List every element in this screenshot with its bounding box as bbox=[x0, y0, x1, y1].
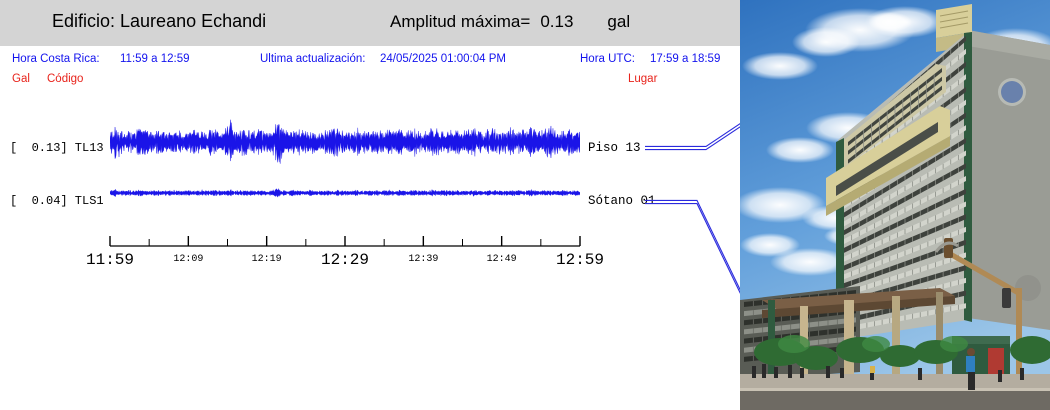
trace-left-label-1: [ 0.04] TLS1 bbox=[10, 194, 104, 208]
max-amplitude-readout: Amplitud máxima=0.13gal bbox=[390, 12, 630, 32]
local-time-value: 11:59 a 12:59 bbox=[120, 53, 190, 65]
page-title: Edificio: Laureano Echandi bbox=[52, 11, 266, 32]
axis-tick-label: 12:49 bbox=[487, 254, 517, 265]
utc-time-value: 17:59 a 18:59 bbox=[650, 53, 720, 65]
trace-right-label-0: Piso 13 bbox=[588, 141, 641, 155]
axis-tick-label: 12:09 bbox=[173, 254, 203, 265]
axis-tick-label: 12:29 bbox=[321, 251, 369, 269]
max-amplitude-value: 0.13 bbox=[540, 12, 573, 31]
info-row-primary: Hora Costa Rica: 11:59 a 12:59 Ultima ac… bbox=[0, 53, 740, 71]
seismic-monitor-page: Edificio: Laureano Echandi Amplitud máxi… bbox=[0, 0, 1050, 410]
axis-tick-label: 11:59 bbox=[86, 251, 134, 269]
max-amplitude-unit: gal bbox=[607, 12, 630, 31]
local-time-label: Hora Costa Rica: bbox=[12, 53, 100, 65]
info-row-secondary: Gal Código Lugar bbox=[0, 73, 740, 91]
axis-tick-label: 12:19 bbox=[252, 254, 282, 265]
trace-waveform-0 bbox=[110, 114, 580, 170]
max-amplitude-label: Amplitud máxima= bbox=[390, 12, 530, 31]
last-update-value: 24/05/2025 01:00:04 PM bbox=[380, 53, 506, 65]
column-header-lugar: Lugar bbox=[628, 73, 657, 85]
axis-tick-label: 12:39 bbox=[408, 254, 438, 265]
building-photo bbox=[740, 0, 1050, 410]
last-update-label: Ultima actualización: bbox=[260, 53, 365, 65]
trace-tl13 bbox=[110, 114, 580, 170]
trace-tls1 bbox=[110, 180, 580, 206]
building-photo-illustration bbox=[740, 0, 1050, 410]
column-header-gal: Gal bbox=[12, 73, 30, 85]
seismogram-plot: [ 0.13] TL13 [ 0.04] TLS1 Piso 13 Sótano… bbox=[0, 90, 740, 280]
trace-right-label-1: Sótano 01 bbox=[588, 194, 656, 208]
time-axis: 11:5912:0912:1912:2912:3912:4912:59 bbox=[0, 230, 740, 278]
column-header-codigo: Código bbox=[47, 73, 83, 85]
utc-time-label: Hora UTC: bbox=[580, 53, 635, 65]
trace-left-label-0: [ 0.13] TL13 bbox=[10, 141, 104, 155]
trace-waveform-1 bbox=[110, 180, 580, 206]
header-bar: Edificio: Laureano Echandi Amplitud máxi… bbox=[0, 0, 740, 46]
axis-tick-label: 12:59 bbox=[556, 251, 604, 269]
